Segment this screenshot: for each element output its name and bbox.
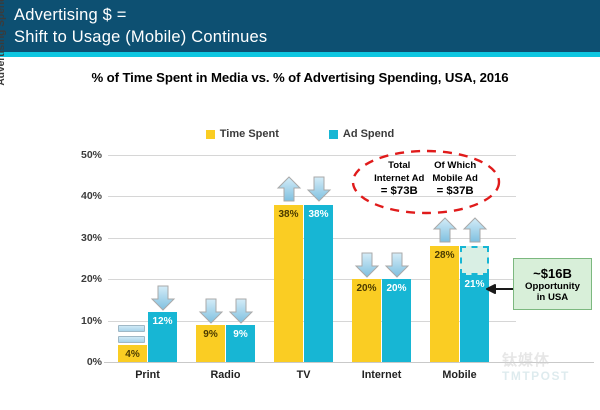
- x-label-internet: Internet: [342, 369, 421, 381]
- header-accent-stripe: [0, 52, 600, 57]
- bar-group-print: 4% 12% Print: [118, 155, 177, 362]
- bar-tv-time-spent: 38%: [274, 205, 303, 362]
- legend-item-time-spent: Time Spent: [206, 128, 279, 140]
- legend-swatch-ad-spend: [329, 130, 338, 139]
- opportunity-band-mobile: [460, 246, 489, 275]
- trend-equal-icon-print-time-spent: [118, 325, 145, 345]
- bar-print-time-spent: 4%: [118, 345, 147, 362]
- watermark-line1: 钛媒体: [502, 352, 594, 369]
- x-label-radio: Radio: [186, 369, 265, 381]
- legend-item-ad-spend: Ad Spend: [329, 128, 394, 140]
- watermark: 钛媒体 TMTPOST: [502, 352, 594, 398]
- y-tick-20: 20%: [56, 273, 102, 285]
- bar-mobile-ad-spend: 21%: [460, 275, 489, 362]
- chart-legend: Time Spent Ad Spend: [0, 128, 600, 140]
- x-label-mobile: Mobile: [420, 369, 499, 381]
- slide-title: Advertising $ = Shift to Usage (Mobile) …: [14, 4, 574, 48]
- callout-line2: in USA: [537, 292, 568, 303]
- legend-label-ad-spend: Ad Spend: [343, 128, 394, 140]
- callout-amount: ~$16B: [533, 266, 572, 281]
- bar-value-tv-ad-spend: 38%: [304, 209, 333, 220]
- trend-down-icon-print-ad-spend: [150, 285, 176, 311]
- bar-internet-ad-spend: 20%: [382, 279, 411, 362]
- callout-pointer-arrow-icon: [486, 282, 514, 296]
- trend-down-icon-internet-time-spent: [354, 252, 380, 278]
- bar-group-tv: 38% 38% TV: [274, 155, 333, 362]
- bar-value-print-time-spent: 4%: [118, 349, 147, 360]
- annotation-total-internet-ad: Total Internet Ad = $73B: [374, 160, 424, 198]
- y-tick-40: 40%: [56, 190, 102, 202]
- bar-print-ad-spend: 12%: [148, 312, 177, 362]
- bar-value-internet-ad-spend: 20%: [382, 283, 411, 294]
- opportunity-callout: ~$16B Opportunity in USA: [513, 258, 592, 310]
- callout-line1: Opportunity: [525, 281, 580, 292]
- annotation-total-internet-ad-line1: Total: [374, 160, 424, 173]
- x-label-tv: TV: [264, 369, 343, 381]
- watermark-line2: TMTPOST: [502, 369, 594, 383]
- annotation-mobile-ad-line2: Mobile Ad: [432, 173, 477, 186]
- trend-down-icon-tv-ad-spend: [306, 176, 332, 202]
- y-tick-50: 50%: [56, 149, 102, 161]
- legend-label-time-spent: Time Spent: [220, 128, 279, 140]
- internet-ad-annotation: Total Internet Ad = $73B Of Which Mobile…: [350, 148, 502, 216]
- trend-down-icon-radio-ad-spend: [228, 298, 254, 324]
- bar-mobile-time-spent: 28%: [430, 246, 459, 362]
- trend-up-icon-mobile-ad-spend: [462, 217, 488, 243]
- bar-radio-time-spent: 9%: [196, 325, 225, 362]
- bar-radio-ad-spend: 9%: [226, 325, 255, 362]
- x-label-print: Print: [108, 369, 187, 381]
- bar-value-radio-ad-spend: 9%: [226, 329, 255, 340]
- bar-internet-time-spent: 20%: [352, 279, 381, 362]
- bar-value-print-ad-spend: 12%: [148, 316, 177, 327]
- bar-value-mobile-ad-spend: 21%: [460, 279, 489, 290]
- trend-down-icon-radio-time-spent: [198, 298, 224, 324]
- bar-value-radio-time-spent: 9%: [196, 329, 225, 340]
- annotation-total-internet-ad-amount: = $73B: [374, 185, 424, 198]
- bar-value-tv-time-spent: 38%: [274, 209, 303, 220]
- y-tick-30: 30%: [56, 232, 102, 244]
- bar-group-radio: 9% 9% Radio: [196, 155, 255, 362]
- chart-title: % of Time Spent in Media vs. % of Advert…: [0, 70, 600, 85]
- y-tick-0: 0%: [56, 356, 102, 368]
- annotation-mobile-ad: Of Which Mobile Ad = $37B: [432, 160, 477, 198]
- bar-tv-ad-spend: 38%: [304, 205, 333, 362]
- trend-up-icon-tv-time-spent: [276, 176, 302, 202]
- trend-up-icon-mobile-time-spent: [432, 217, 458, 243]
- trend-down-icon-internet-ad-spend: [384, 252, 410, 278]
- bar-value-mobile-time-spent: 28%: [430, 250, 459, 261]
- annotation-mobile-ad-amount: = $37B: [432, 185, 477, 198]
- annotation-total-internet-ad-line2: Internet Ad: [374, 173, 424, 186]
- annotation-mobile-ad-line1: Of Which: [432, 160, 477, 173]
- y-tick-10: 10%: [56, 315, 102, 327]
- legend-swatch-time-spent: [206, 130, 215, 139]
- slide: Advertising $ = Shift to Usage (Mobile) …: [0, 0, 600, 410]
- bar-value-internet-time-spent: 20%: [352, 283, 381, 294]
